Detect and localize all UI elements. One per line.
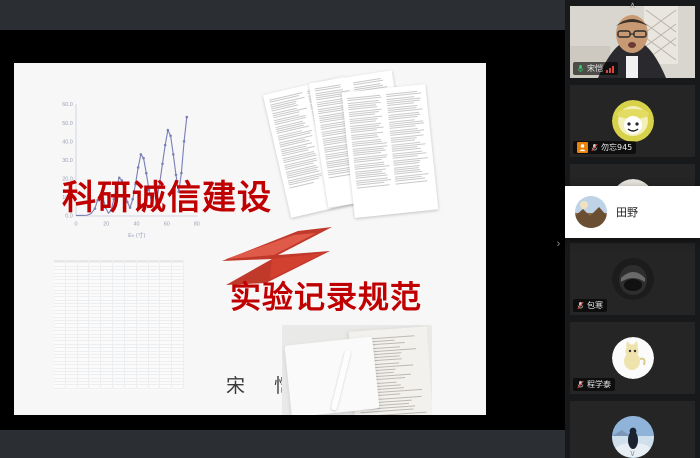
screen-share-stage[interactable]: 60.0 50.0 40.0 30.0 20.0 10.0 0.0 0 20 4… xyxy=(0,0,565,458)
participant-name-badge: 宋恺 xyxy=(573,62,618,75)
participant-name: 包寒 xyxy=(587,302,603,310)
participant-name-badge: 勿忘945 xyxy=(573,141,636,154)
mic-muted-icon xyxy=(577,301,584,310)
chart-x-ticklabels: 0 20 40 60 80 xyxy=(74,222,199,228)
svg-text:40.0: 40.0 xyxy=(62,139,73,145)
participant-tile[interactable]: 程学泰 xyxy=(570,322,695,394)
cartoon-cat-avatar xyxy=(612,337,654,379)
svg-text:80: 80 xyxy=(194,222,200,228)
svg-text:0: 0 xyxy=(74,222,77,228)
chart-x-axis-label: Eₕ (寸) xyxy=(128,231,145,239)
participant-name-badge: 包寒 xyxy=(573,299,607,312)
data-table-image xyxy=(54,260,184,390)
scroll-down-chevron-icon[interactable]: ∨ xyxy=(565,448,700,458)
participant-tile[interactable]: 勿忘945 xyxy=(570,85,695,157)
svg-text:50.0: 50.0 xyxy=(62,121,73,127)
video-conference-window: 60.0 50.0 40.0 30.0 20.0 10.0 0.0 0 20 4… xyxy=(0,0,700,458)
participant-name-badge: 程学泰 xyxy=(573,378,615,391)
stage-bottom-bar xyxy=(0,430,565,458)
cartoon-straw-hat-avatar xyxy=(612,100,654,142)
scroll-up-chevron-icon[interactable]: ∧ xyxy=(565,0,700,10)
table-row xyxy=(54,385,184,388)
chevron-right-icon[interactable]: › xyxy=(552,231,565,257)
paper-page xyxy=(342,84,439,218)
dark-helmet-avatar xyxy=(612,258,654,300)
mic-muted-icon xyxy=(577,380,584,389)
hover-card-name: 田野 xyxy=(616,204,638,220)
svg-text:40: 40 xyxy=(133,222,139,228)
notebook-photo xyxy=(282,325,432,415)
signal-bars-icon xyxy=(606,65,614,73)
svg-text:60.0: 60.0 xyxy=(62,102,73,108)
line-chart: 60.0 50.0 40.0 30.0 20.0 10.0 0.0 0 20 4… xyxy=(44,93,204,243)
svg-text:30.0: 30.0 xyxy=(62,158,73,164)
slide-title: 科研诚信建设 xyxy=(62,181,272,215)
stage-top-bar xyxy=(0,0,565,30)
host-icon xyxy=(577,142,588,153)
participant-hover-card[interactable]: 田野 xyxy=(565,186,700,238)
participant-name: 勿忘945 xyxy=(601,144,632,152)
red-lightning-bolt-icon xyxy=(220,225,336,287)
participant-tile[interactable]: 宋恺 xyxy=(570,6,695,78)
chart-svg: 60.0 50.0 40.0 30.0 20.0 10.0 0.0 0 20 4… xyxy=(44,93,204,243)
mic-muted-icon xyxy=(591,143,598,152)
mic-on-icon xyxy=(577,64,584,73)
academic-papers-image xyxy=(266,68,436,233)
slide-subtitle: 实验记录规范 xyxy=(230,283,422,314)
participant-name: 宋恺 xyxy=(587,65,603,73)
participant-tile[interactable]: 包寒 xyxy=(570,243,695,315)
presentation-slide: 60.0 50.0 40.0 30.0 20.0 10.0 0.0 0 20 4… xyxy=(14,63,486,415)
participant-name: 程学泰 xyxy=(587,381,611,389)
avatar xyxy=(575,196,607,228)
svg-text:20: 20 xyxy=(103,222,109,228)
svg-text:60: 60 xyxy=(164,222,170,228)
